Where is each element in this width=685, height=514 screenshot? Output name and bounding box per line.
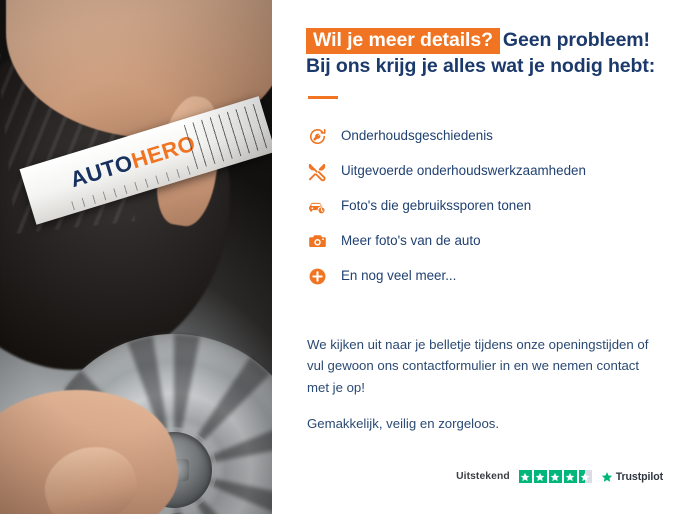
list-item: Meer foto's van de auto (306, 231, 659, 253)
list-item-label: Onderhoudsgeschiedenis (341, 128, 493, 145)
trustpilot-rating-word: Uitstekend (456, 471, 510, 482)
star-icon (519, 470, 532, 483)
trustpilot-wordmark: Trustpilot (616, 471, 663, 483)
trustpilot-logo: Trustpilot (601, 471, 663, 483)
list-item: Onderhoudsgeschiedenis (306, 126, 659, 148)
list-item: Foto's die gebruikssporen tonen (306, 196, 659, 218)
headline-line-2: Bij ons krijg je alles wat je nodig hebt… (306, 54, 659, 80)
half-star-icon (579, 470, 592, 483)
star-icon (564, 470, 577, 483)
body-paragraph-2: Gemakkelijk, veilig en zorgeloos. (307, 413, 655, 434)
body-copy: We kijken uit naar je belletje tijdens o… (307, 334, 655, 435)
car-wear-photo-icon (306, 196, 328, 218)
content-panel: Wil je meer details?Geen probleem! Bij o… (272, 0, 685, 514)
list-item-label: En nog veel meer... (341, 268, 456, 285)
camera-icon (306, 231, 328, 253)
accent-divider (308, 96, 338, 99)
tools-icon (306, 161, 328, 183)
trustpilot-star-icon (601, 471, 613, 483)
feature-list: Onderhoudsgeschiedenis Uitgevoerde onder… (306, 126, 659, 288)
headline-block: Wil je meer details?Geen probleem! Bij o… (306, 28, 659, 80)
tyre-inspection-photo: AUTOHERO (0, 0, 272, 514)
list-item-label: Meer foto's van de auto (341, 233, 481, 250)
list-item-label: Uitgevoerde onderhoudswerkzaamheden (341, 163, 586, 180)
headline-highlight: Wil je meer details? (306, 28, 500, 54)
headline-line-1: Wil je meer details?Geen probleem! (306, 28, 659, 54)
trustpilot-stars (519, 470, 592, 483)
list-item: En nog veel meer... (306, 266, 659, 288)
list-item: Uitgevoerde onderhoudswerkzaamheden (306, 161, 659, 183)
headline-line-1-rest: Geen probleem! (503, 29, 650, 51)
maintenance-history-icon (306, 126, 328, 148)
body-paragraph-1: We kijken uit naar je belletje tijdens o… (307, 334, 655, 398)
star-icon (549, 470, 562, 483)
list-item-label: Foto's die gebruikssporen tonen (341, 198, 531, 215)
star-icon (534, 470, 547, 483)
trustpilot-rating[interactable]: Uitstekend Trustp (456, 470, 663, 483)
promo-panel: AUTOHERO Wil je meer details?Geen proble… (0, 0, 685, 514)
plus-circle-icon (306, 266, 328, 288)
